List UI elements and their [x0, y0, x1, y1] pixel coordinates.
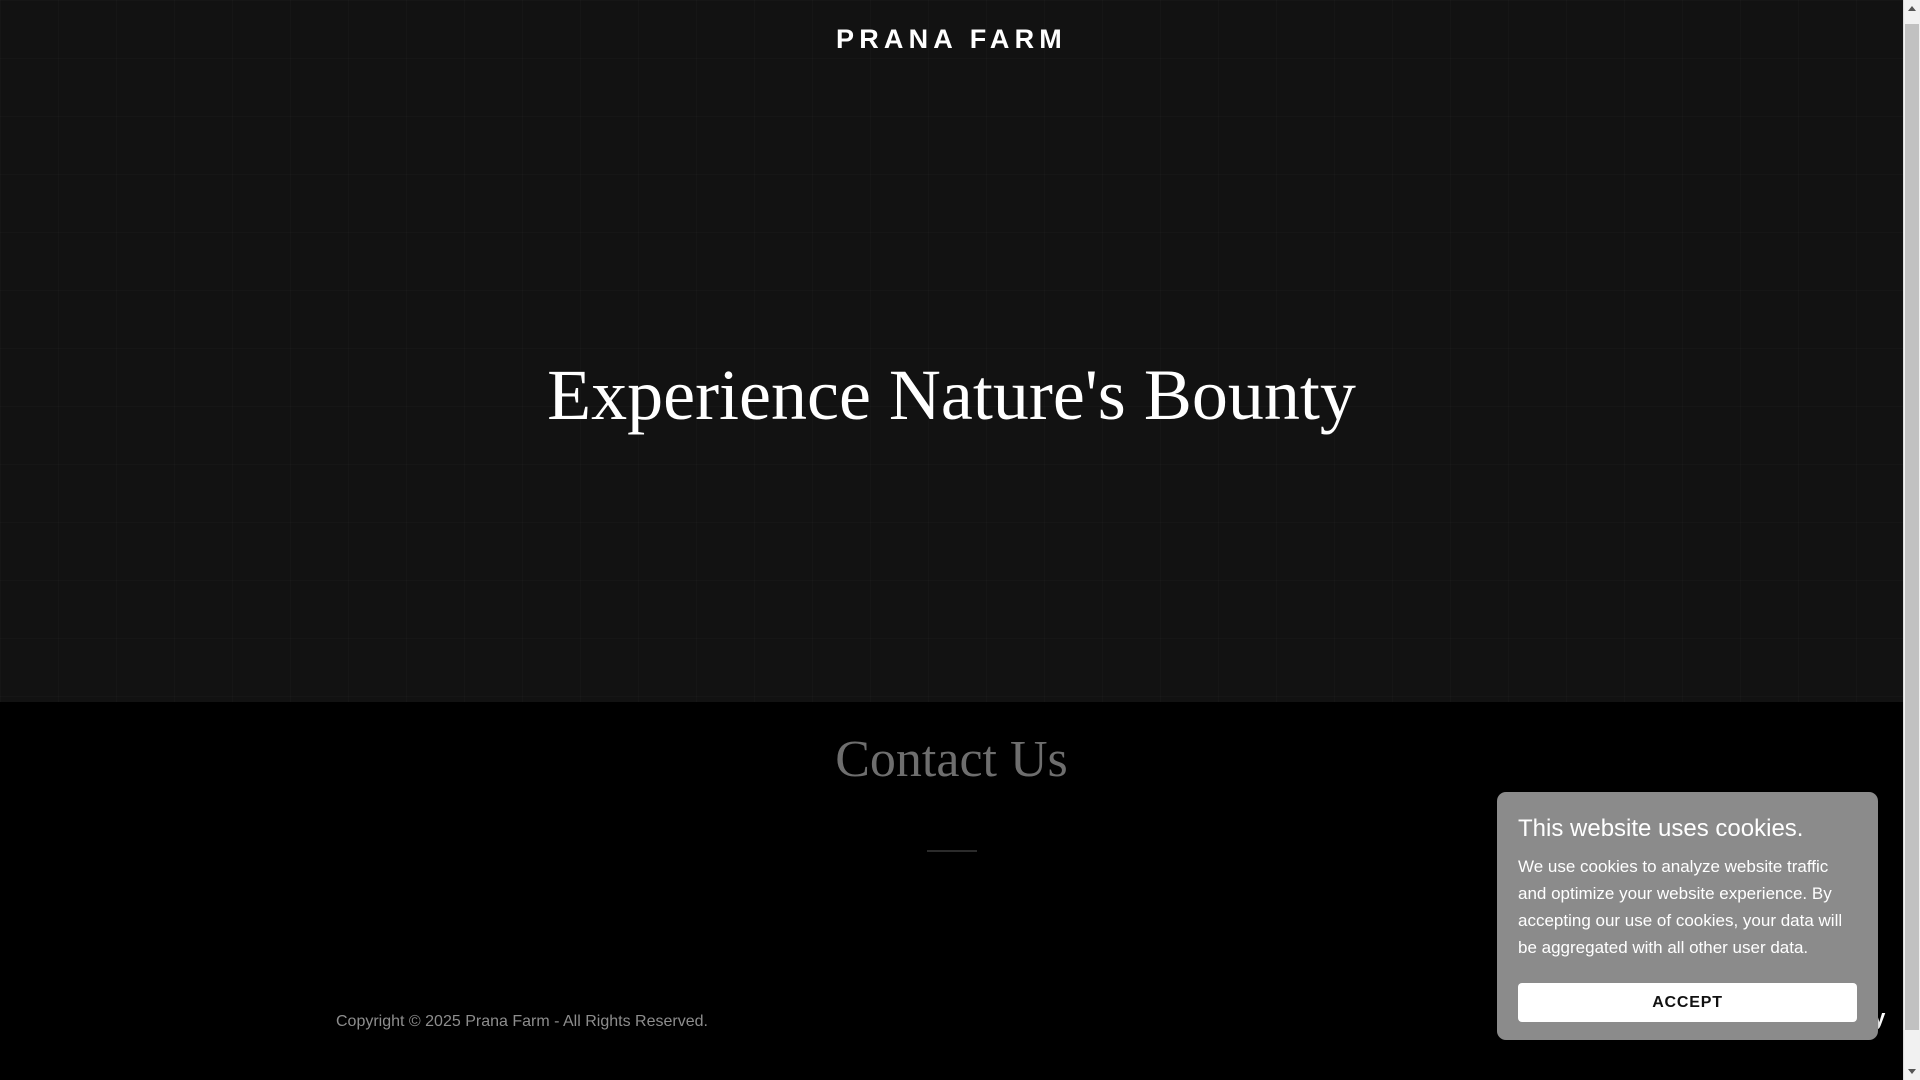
cookie-banner-body: We use cookies to analyze website traffi… — [1518, 853, 1857, 961]
cookie-consent-banner: This website uses cookies. We use cookie… — [1497, 792, 1878, 1040]
copyright-text: Copyright © 2025 Prana Farm - All Rights… — [336, 1011, 708, 1033]
scrollbar-up-button[interactable] — [1904, 0, 1920, 17]
scrollbar-down-button[interactable] — [1904, 1063, 1920, 1080]
contact-divider — [927, 850, 977, 852]
page-root: PRANA FARM Experience Nature's Bounty Co… — [0, 0, 1920, 1080]
hero-heading: Experience Nature's Bounty — [0, 352, 1903, 438]
chevron-down-icon — [1908, 1069, 1916, 1074]
scrollbar-thumb[interactable] — [1905, 24, 1919, 1030]
contact-heading: Contact Us — [0, 728, 1903, 792]
cookie-accept-button[interactable]: ACCEPT — [1518, 983, 1857, 1022]
hero-section: PRANA FARM Experience Nature's Bounty — [0, 0, 1903, 702]
page-viewport: PRANA FARM Experience Nature's Bounty Co… — [0, 0, 1903, 1080]
chevron-up-icon — [1908, 6, 1916, 11]
vertical-scrollbar[interactable] — [1903, 0, 1920, 1080]
site-title[interactable]: PRANA FARM — [0, 22, 1903, 56]
cookie-banner-title: This website uses cookies. — [1518, 814, 1857, 844]
